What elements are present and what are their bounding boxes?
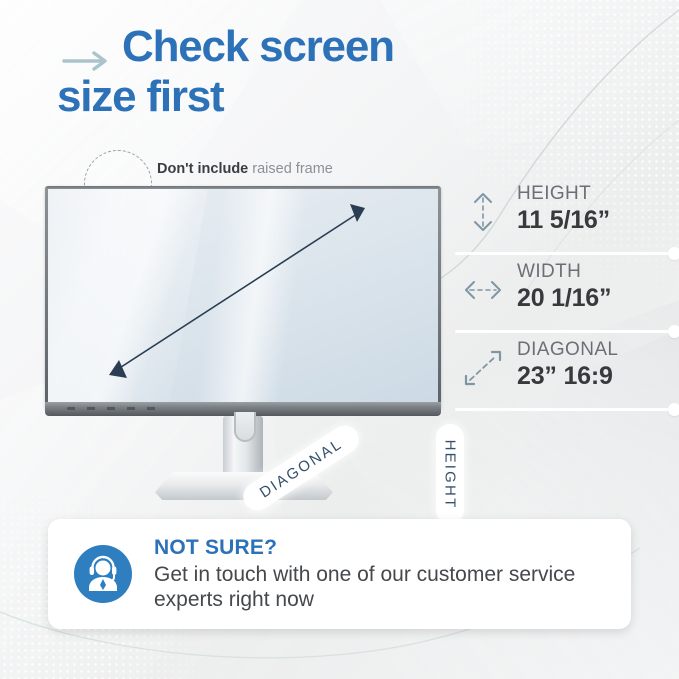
raised-frame-note-rest: raised frame	[248, 161, 333, 177]
page-title: Check screen size first	[57, 22, 617, 122]
arrow-right-icon	[62, 50, 114, 72]
raised-frame-note-emphasis: Don't include	[157, 161, 248, 177]
monitor-bezel	[45, 186, 441, 408]
support-card-body: Get in touch with one of our customer se…	[154, 562, 631, 612]
measurement-text-width: WIDTH 20 1/16”	[517, 261, 611, 313]
measurement-value-diagonal: 23” 16:9	[517, 361, 618, 391]
monitor-buttons-icon	[67, 407, 159, 410]
raised-frame-note: Don't include raised frame	[157, 161, 333, 177]
support-card-title: NOT SURE?	[154, 536, 631, 560]
measurement-divider-2	[455, 330, 679, 333]
page-title-line1: Check screen	[122, 22, 394, 71]
page-title-line2: size first	[57, 72, 617, 122]
support-card-text: NOT SURE? Get in touch with one of our c…	[154, 536, 631, 612]
measurement-row-width: WIDTH 20 1/16”	[455, 261, 679, 339]
monitor-screen	[48, 189, 438, 408]
measurement-text-diagonal: DIAGONAL 23” 16:9	[517, 339, 618, 391]
horizontal-double-arrow-icon	[463, 269, 503, 311]
measurement-row-height: HEIGHT 11 5/16”	[455, 183, 679, 261]
measurement-text-height: HEIGHT 11 5/16”	[517, 183, 610, 235]
measurement-divider-1	[455, 252, 679, 255]
monitor-label-height: HEIGHT	[436, 424, 464, 524]
monitor-illustration: DIAGONAL WIDTH HEIGHT	[45, 186, 441, 486]
measurement-value-height: 11 5/16”	[517, 205, 610, 235]
monitor-label-height-text: HEIGHT	[442, 439, 459, 509]
measurement-label-width: WIDTH	[517, 261, 611, 283]
monitor-stand-neck	[223, 416, 263, 478]
headset-agent-icon	[74, 545, 132, 603]
measurement-list: HEIGHT 11 5/16” WIDTH 20 1/16”	[455, 183, 679, 417]
support-card[interactable]: NOT SURE? Get in touch with one of our c…	[48, 519, 631, 629]
page-root: Check screen size first Don't include ra…	[0, 0, 679, 679]
measurement-label-height: HEIGHT	[517, 183, 610, 205]
page-header: Check screen size first	[57, 22, 617, 122]
measurement-divider-3	[455, 408, 679, 411]
measurement-label-diagonal: DIAGONAL	[517, 339, 618, 361]
diagonal-arrow-icon	[463, 347, 503, 389]
measurement-value-width: 20 1/16”	[517, 283, 611, 313]
vertical-double-arrow-icon	[463, 191, 503, 233]
measurement-row-diagonal: DIAGONAL 23” 16:9	[455, 339, 679, 417]
